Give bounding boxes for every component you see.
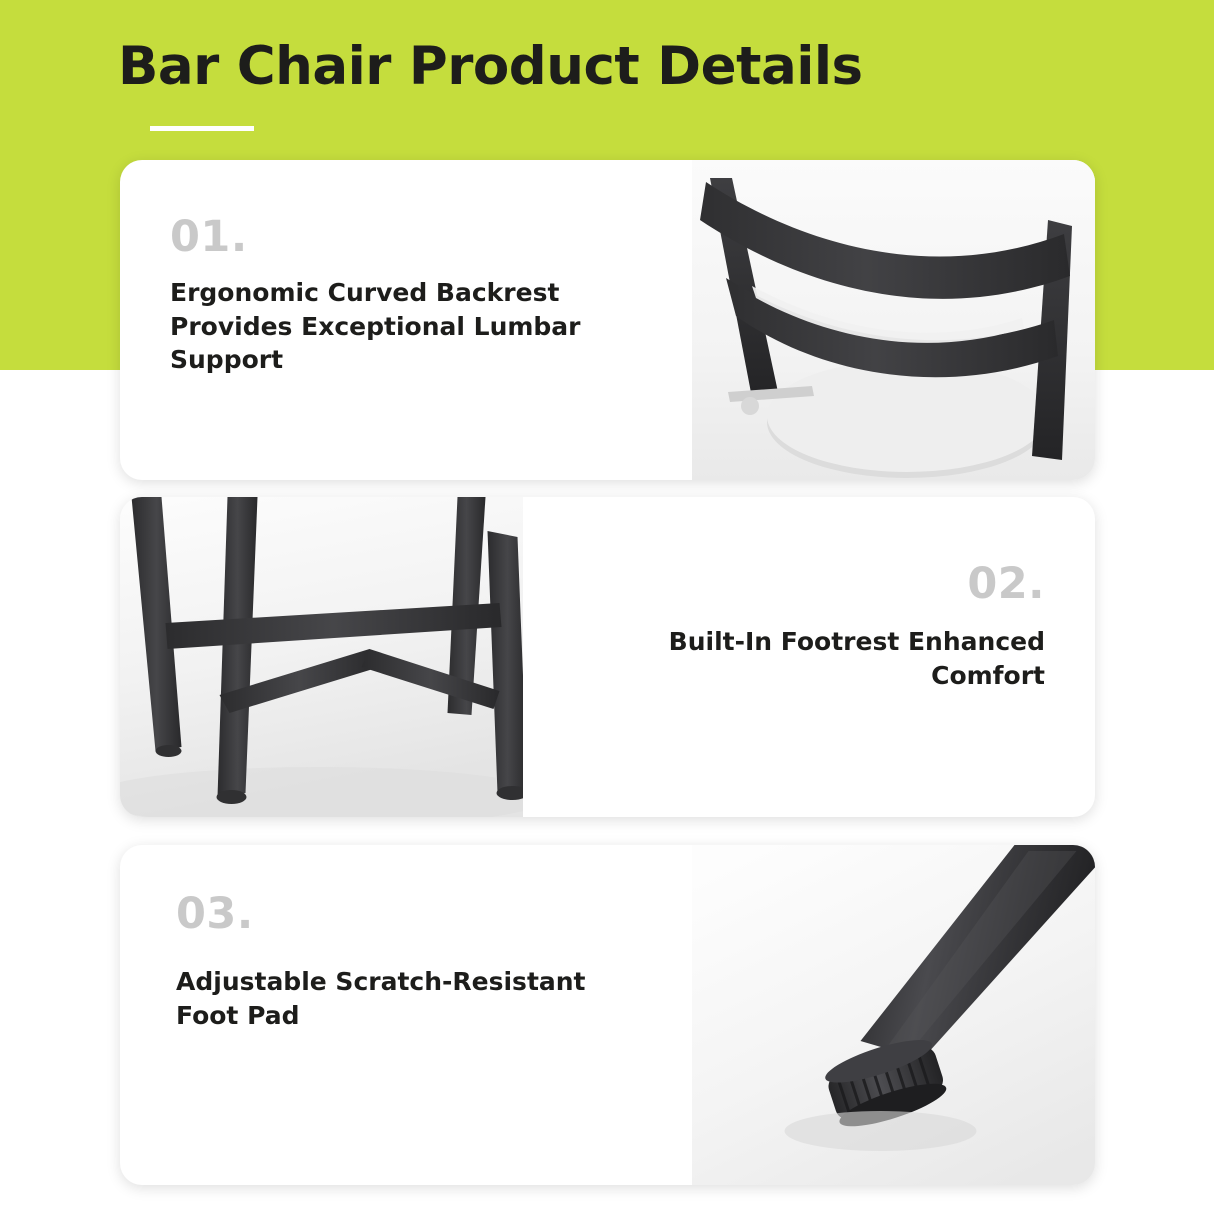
title-underline-accent: [150, 126, 254, 131]
chair-backrest-illustration: [692, 160, 1095, 480]
chair-footrest-illustration: [120, 497, 523, 817]
feature-card-02-number: 02.: [967, 559, 1045, 609]
feature-card-02-text-pane: 02. Built-In Footrest Enhanced Comfort: [523, 497, 1095, 817]
page-title: Bar Chair Product Details: [118, 36, 863, 97]
feature-card-03-title: Adjustable Scratch-Resistant Foot Pad: [176, 965, 626, 1032]
chair-backrest-photo: [692, 160, 1095, 480]
feature-card-03-number: 03.: [176, 889, 254, 939]
feature-card-03-text-pane: 03. Adjustable Scratch-Resistant Foot Pa…: [120, 845, 692, 1185]
feature-card-03[interactable]: 03. Adjustable Scratch-Resistant Foot Pa…: [120, 845, 1095, 1185]
feature-card-02-title: Built-In Footrest Enhanced Comfort: [575, 625, 1045, 692]
feature-card-01-title: Ergonomic Curved Backrest Provides Excep…: [170, 276, 640, 377]
feature-card-01-text-pane: 01. Ergonomic Curved Backrest Provides E…: [120, 160, 692, 480]
feature-card-02[interactable]: 02. Built-In Footrest Enhanced Comfort: [120, 497, 1095, 817]
feature-card-01[interactable]: 01. Ergonomic Curved Backrest Provides E…: [120, 160, 1095, 480]
adjustable-foot-pad-photo: [692, 845, 1095, 1185]
chair-footrest-legs-photo: [120, 497, 523, 817]
foot-pad-illustration: [692, 845, 1095, 1185]
feature-card-01-number: 01.: [170, 212, 248, 262]
